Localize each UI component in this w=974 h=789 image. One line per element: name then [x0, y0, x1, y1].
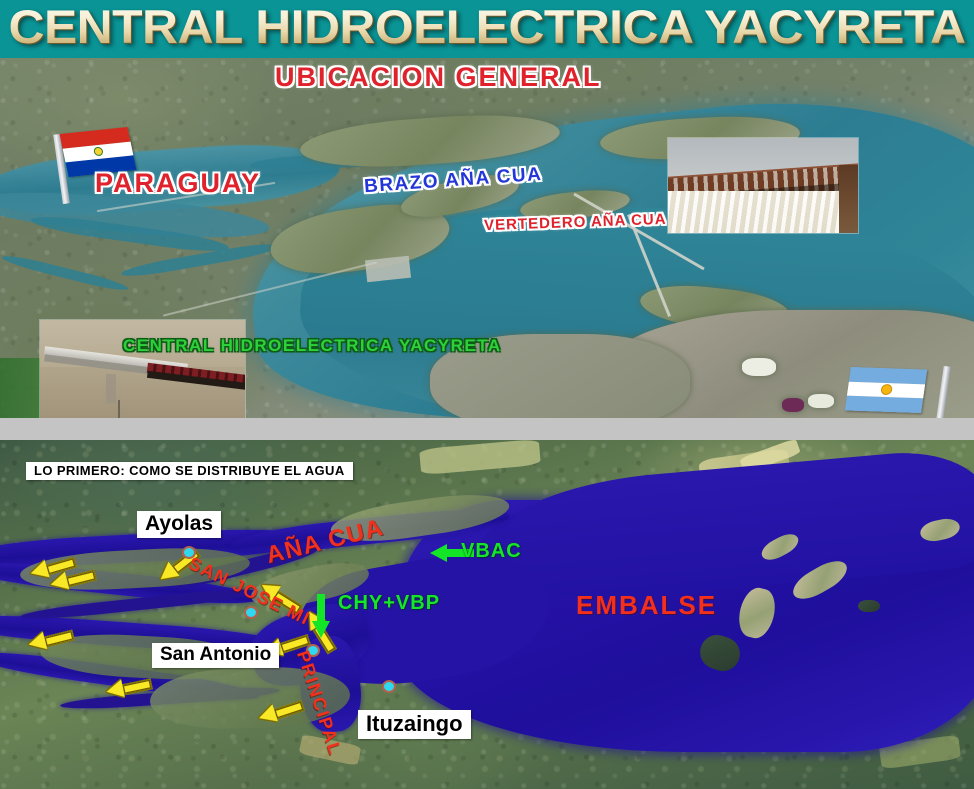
- panel-divider: [0, 418, 974, 440]
- reservoir-island-dark: [858, 600, 880, 612]
- city-label-ituzaingo: Ituzaingo: [358, 710, 471, 739]
- flag-cloth-argentina: [845, 367, 927, 413]
- section-label-ubicacion-general: UBICACION GENERAL: [275, 62, 602, 93]
- purple-field-patch: [782, 398, 804, 412]
- photo-spilling-water: [668, 191, 858, 233]
- photo-ana-cua-spillway: [668, 138, 858, 233]
- white-field-patch: [742, 358, 776, 376]
- arrow-down-icon: [312, 594, 330, 638]
- flag-stripe-lightblue: [845, 396, 923, 413]
- flagpole: [934, 366, 950, 418]
- sun-of-may-icon: [880, 384, 893, 395]
- overview-map-panel: UBICACION GENERAL PARAGUAY BRAZO AÑA CUA…: [0, 58, 974, 418]
- photo-abutment: [839, 165, 858, 233]
- label-country-paraguay: PARAGUAY: [95, 168, 261, 199]
- arrow-shaft: [317, 594, 325, 622]
- photo-yacyreta-powerhouse: [40, 320, 245, 418]
- arrow-shaft: [65, 569, 97, 587]
- dam-structure-block: [365, 256, 411, 282]
- arrow-head: [430, 544, 447, 562]
- label-powerplant-central-hidroelectrica-yacyreta: CENTRAL HIDROELECTRICA YACYRETA: [123, 336, 502, 356]
- arrow-shaft: [121, 678, 153, 695]
- title-band: CENTRAL HIDROELECTRICA YACYRETA: [0, 0, 974, 58]
- section-label-lo-primero: LO PRIMERO: COMO SE DISTRIBUYE EL AGUA: [26, 462, 353, 480]
- arrow-head: [105, 679, 125, 700]
- arrow-head: [312, 621, 330, 638]
- photo-pier: [106, 374, 116, 403]
- water-distribution-map-panel: LO PRIMERO: COMO SE DISTRIBUYE EL AGUA A…: [0, 440, 974, 789]
- discharge-label-vbac: VBAC: [461, 540, 522, 563]
- discharge-label-chy-vbp: CHY+VBP: [338, 592, 440, 615]
- city-marker-confluence: [382, 680, 396, 693]
- white-field-patch: [808, 394, 834, 408]
- slide-canvas: CENTRAL HIDROELECTRICA YACYRETA: [0, 0, 974, 789]
- flag-argentina: [842, 364, 952, 418]
- reservoir-label-embalse: EMBALSE: [576, 590, 717, 621]
- city-marker-extra: [244, 606, 258, 619]
- page-title: CENTRAL HIDROELECTRICA YACYRETA: [0, 0, 974, 56]
- city-label-ayolas: Ayolas: [137, 511, 221, 538]
- city-label-san-antonio: San Antonio: [152, 643, 279, 668]
- photo-post: [118, 400, 120, 418]
- flag-stripe-white: [847, 381, 925, 398]
- arrow-shaft: [43, 629, 75, 647]
- flag-emblem-icon: [93, 147, 104, 157]
